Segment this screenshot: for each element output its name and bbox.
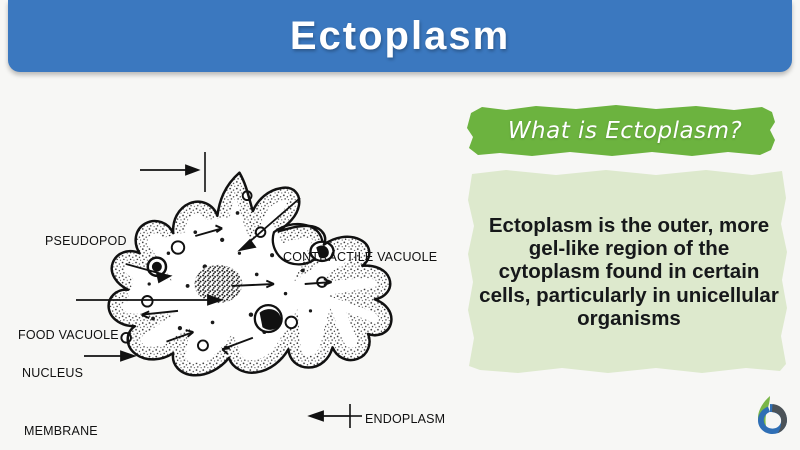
title-banner: Ectoplasm (8, 0, 792, 72)
biology-online-logo[interactable] (748, 393, 792, 437)
definition-box: Ectoplasm is the outer, more gel-like re… (466, 168, 790, 376)
label-membrane: MEMBRANE (24, 424, 98, 438)
label-pseudopod: PSEUDOPOD (45, 234, 127, 248)
slide-root: Ectoplasm (0, 0, 800, 450)
label-food-vacuole: FOOD VACUOLE (18, 328, 119, 342)
label-endoplasm: ENDOPLASM (365, 412, 445, 426)
page-title: Ectoplasm (290, 16, 510, 56)
question-banner-label: What is Ectoplasm? (466, 104, 778, 158)
amoeba-diagram: PSEUDOPOD FOOD VACUOLE NUCLEUS MEMBRANE … (0, 74, 466, 450)
label-contractile-vacuole: CONTRACTILE VACUOLE (283, 250, 437, 264)
definition-text: Ectoplasm is the outer, more gel-like re… (466, 168, 790, 376)
label-nucleus: NUCLEUS (22, 366, 83, 380)
question-banner: What is Ectoplasm? (466, 104, 778, 158)
